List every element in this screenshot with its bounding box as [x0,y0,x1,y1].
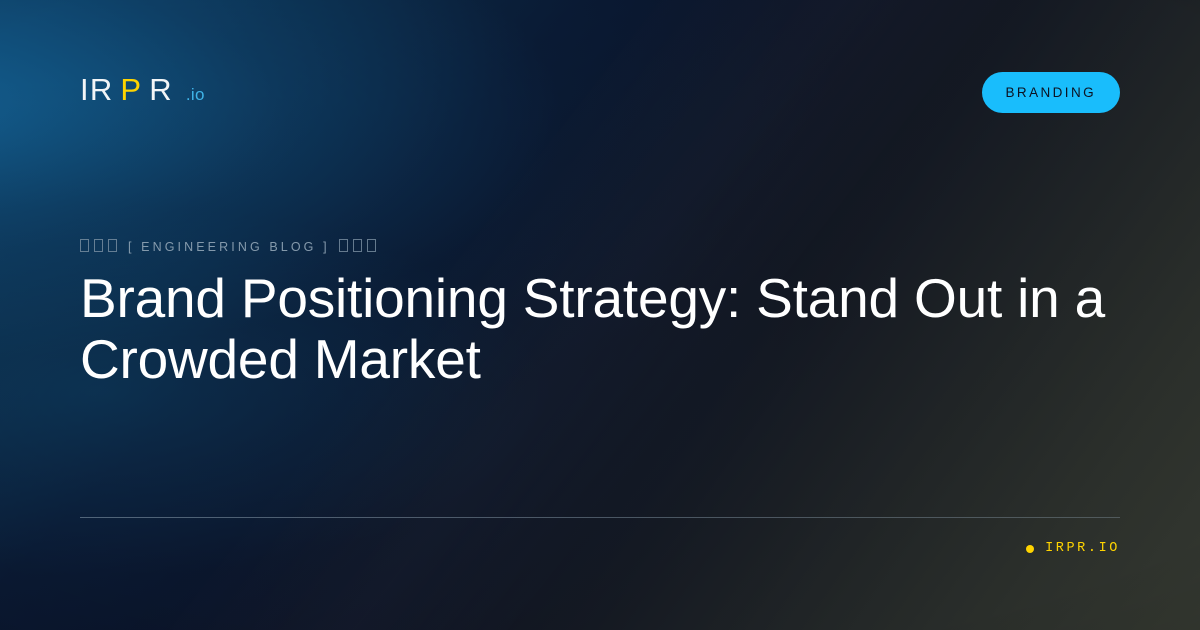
footer-divider [80,517,1120,518]
tofu-box-icon [108,239,117,252]
card-content: IR P R .io BRANDING [ ENGINEERING BLOG ]… [0,0,1200,630]
page-title: Brand Positioning Strategy: Stand Out in… [80,268,1115,389]
bullet-dot-icon [1026,545,1034,553]
brand-logo[interactable]: IR P R .io [80,74,205,105]
category-badge-label: BRANDING [1006,85,1096,100]
tofu-box-icon [80,239,89,252]
tofu-box-icon [367,239,376,252]
logo-text-ir: IR [80,74,113,105]
eyebrow-bracket-close: ] [323,240,330,254]
eyebrow-ornament-right [339,239,381,254]
eyebrow-ornament-left [80,239,122,254]
category-badge[interactable]: BRANDING [982,72,1120,113]
eyebrow-bracket-open: [ [128,240,135,254]
logo-text-r: R [149,74,173,105]
tofu-box-icon [353,239,362,252]
og-card: IR P R .io BRANDING [ ENGINEERING BLOG ]… [0,0,1200,630]
tofu-box-icon [94,239,103,252]
eyebrow-text: ENGINEERING BLOG [141,240,316,254]
logo-text-p: P [120,74,142,105]
logo-text-dotio: .io [186,86,205,103]
footer-site-text: IRPR.IO [1045,541,1120,556]
footer-site-credit: IRPR.IO [1026,541,1120,556]
tofu-box-icon [339,239,348,252]
eyebrow-label: [ ENGINEERING BLOG ] [80,239,381,254]
